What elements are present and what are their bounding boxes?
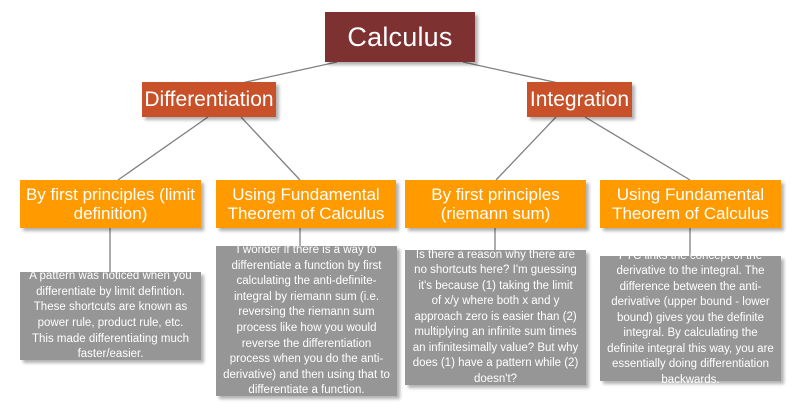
topic-node-label: By first principles (riemann sum) xyxy=(409,185,582,223)
note-text: Is there a reason why there are no short… xyxy=(412,248,579,388)
branch-node-integration[interactable]: Integration xyxy=(527,82,632,117)
mind-map-canvas: Calculus Differentiation Integration By … xyxy=(0,0,800,420)
root-node-calculus[interactable]: Calculus xyxy=(325,12,475,62)
branch-node-label: Differentiation xyxy=(144,88,273,112)
note-integration-ftc[interactable]: FTC links the concept of the derivative … xyxy=(600,256,781,381)
topic-node-label: Using Fundamental Theorem of Calculus xyxy=(220,185,392,223)
root-node-label: Calculus xyxy=(347,22,452,52)
note-text: A pattern was noticed when you different… xyxy=(27,269,194,362)
topic-node-line-1: By first principles xyxy=(26,185,154,204)
topic-node-integration-first-principles[interactable]: By first principles (riemann sum) xyxy=(405,180,586,228)
topic-node-line-1: Using Fundamental xyxy=(617,185,764,204)
topic-node-label: By first principles (limit definition) xyxy=(24,185,197,223)
note-integration-first-principles[interactable]: Is there a reason why there are no short… xyxy=(405,250,586,385)
note-text: I wonder if there is a way to differenti… xyxy=(223,243,390,398)
topic-node-label: Using Fundamental Theorem of Calculus xyxy=(604,185,777,223)
topic-node-line-2: Theorem of Calculus xyxy=(612,204,769,223)
branch-node-differentiation[interactable]: Differentiation xyxy=(142,82,276,117)
topic-node-line-2: Theorem of Calculus xyxy=(228,204,385,223)
topic-node-integration-ftc[interactable]: Using Fundamental Theorem of Calculus xyxy=(600,180,781,228)
note-differentiation-ftc[interactable]: I wonder if there is a way to differenti… xyxy=(216,246,397,396)
topic-node-line-1: Using Fundamental xyxy=(232,185,379,204)
topic-node-line-2: (riemann sum) xyxy=(441,204,551,223)
note-differentiation-first-principles[interactable]: A pattern was noticed when you different… xyxy=(20,272,201,360)
topic-node-differentiation-first-principles[interactable]: By first principles (limit definition) xyxy=(20,180,201,228)
topic-node-differentiation-ftc[interactable]: Using Fundamental Theorem of Calculus xyxy=(216,180,396,228)
branch-node-label: Integration xyxy=(530,88,629,112)
topic-node-line-1: By first principles xyxy=(431,185,559,204)
note-text: FTC links the concept of the derivative … xyxy=(607,249,774,389)
